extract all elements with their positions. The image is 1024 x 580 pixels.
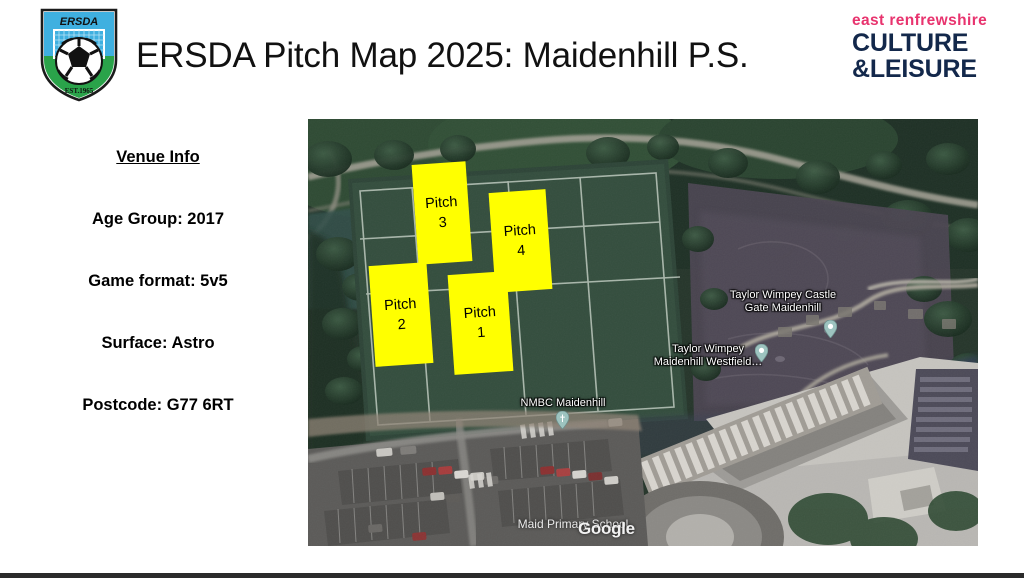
satellite-map[interactable]: Pitch 3 Pitch 4 Pitch 2 Pitch 1 NMBC Mai… [308, 119, 978, 546]
map-pin-icon-castle-gate[interactable] [824, 320, 837, 338]
pitch-1-overlay[interactable]: Pitch 1 [448, 271, 514, 375]
football-icon [56, 38, 102, 84]
slide-bottom-rule [0, 573, 1024, 578]
pitch-3-label-word: Pitch [425, 192, 459, 214]
ersda-est-text: EST.1965 [65, 87, 94, 95]
east-renfrewshire-culture-leisure-logo: east renfrewshire CULTURE &LEISURE [852, 12, 1006, 82]
erc-logo-line-3: &LEISURE [852, 56, 1006, 82]
slide-header: ERSDA EST.1965 ERSDA Pitch Map 2025: Mai… [0, 0, 1024, 112]
venue-info-heading-wrap: Venue Info [38, 132, 278, 167]
pitch-1-label-word: Pitch [463, 302, 497, 324]
ersda-crest-text: ERSDA [60, 16, 99, 28]
ersda-crest-logo: ERSDA EST.1965 [38, 6, 120, 102]
church-pin-icon[interactable] [556, 411, 569, 429]
pitch-2-label-number: 2 [397, 314, 406, 335]
pitch-2-overlay[interactable]: Pitch 2 [369, 262, 434, 367]
page-title: ERSDA Pitch Map 2025: Maidenhill P.S. [136, 36, 749, 76]
venue-postcode: Postcode: G77 6RT [38, 396, 278, 415]
google-watermark: Google [578, 519, 635, 539]
venue-game-format: Game format: 5v5 [38, 272, 278, 291]
slide-canvas: ERSDA EST.1965 ERSDA Pitch Map 2025: Mai… [0, 0, 1024, 580]
erc-logo-line-2: CULTURE [852, 30, 1006, 56]
venue-age-group: Age Group: 2017 [38, 210, 278, 229]
map-pin-icon-westfield[interactable] [755, 344, 768, 362]
pitch-3-label-number: 3 [438, 213, 447, 234]
venue-info-heading: Venue Info [116, 148, 199, 167]
pitch-1-label-number: 1 [476, 323, 485, 344]
erc-logo-line-1: east renfrewshire [852, 12, 1006, 30]
venue-surface: Surface: Astro [38, 334, 278, 353]
pitch-2-label-word: Pitch [384, 293, 418, 315]
pitch-4-label-word: Pitch [503, 220, 537, 242]
pitch-3-overlay[interactable]: Pitch 3 [412, 161, 473, 265]
venue-info-panel: Venue Info Age Group: 2017 Game format: … [38, 132, 278, 415]
pitch-4-label-number: 4 [516, 241, 525, 262]
